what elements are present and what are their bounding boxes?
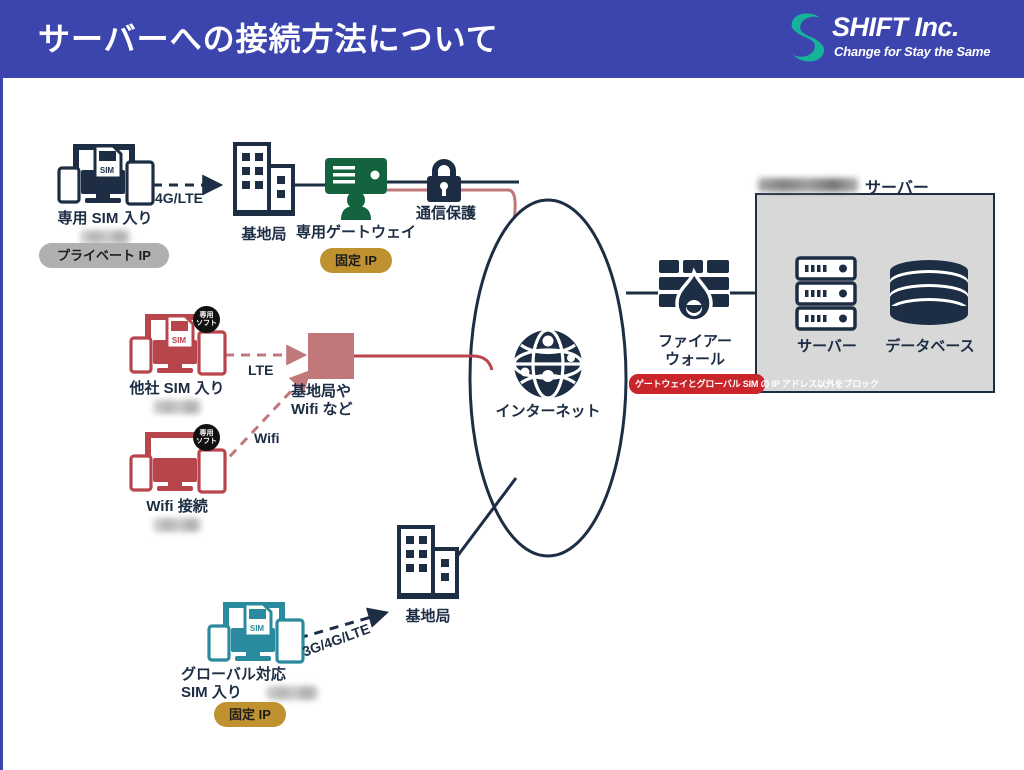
server-zone-title: サーバー xyxy=(865,174,929,198)
redacted-global-sim xyxy=(266,686,318,700)
node-base-station-or-wifi[interactable] xyxy=(308,333,354,379)
shift-logo: SHIFT Inc. Change for Stay the Same xyxy=(784,8,1004,70)
slide-root: サーバーへの接続方法について SHIFT Inc. Change for Sta… xyxy=(0,0,1024,770)
devices-with-sim-icon: SIM xyxy=(205,598,305,668)
soft-badge-other-sim: 専用 ソフト xyxy=(193,306,220,333)
badge-firewall-block-rule: ゲートウェイとグローバル SIM の IP アドレス以外をブロック xyxy=(629,374,765,394)
slide-header: サーバーへの接続方法について SHIFT Inc. Change for Sta… xyxy=(0,0,1024,78)
soft-badge-line2: ソフト xyxy=(196,320,217,327)
label-internet: インターネット xyxy=(488,403,608,421)
label-wifi-device: Wifi 接続 xyxy=(107,498,247,516)
node-database[interactable] xyxy=(887,258,971,332)
label-comm-protection: 通信保護 xyxy=(396,205,496,223)
firewall-flame-icon xyxy=(657,256,731,330)
logo-wordmark: SHIFT Inc. xyxy=(832,12,959,43)
svg-text:SIM: SIM xyxy=(250,624,265,633)
shift-s-swoosh-icon xyxy=(784,10,832,66)
database-cylinder-icon xyxy=(887,258,971,332)
building-icon xyxy=(231,140,297,218)
page-title: サーバーへの接続方法について xyxy=(38,14,499,60)
label-base-station-bottom: 基地局 xyxy=(383,608,473,626)
node-dedicated-gateway[interactable] xyxy=(323,156,389,220)
edge-label-lte: LTE xyxy=(248,362,273,378)
edge-label-wifi: Wifi xyxy=(254,430,280,446)
node-internet[interactable] xyxy=(512,328,584,400)
building-icon xyxy=(395,523,461,601)
node-base-station-top[interactable] xyxy=(231,140,297,218)
gateway-server-person-icon xyxy=(323,156,389,220)
label-other-sim-device: 他社 SIM 入り xyxy=(107,380,247,398)
node-firewall[interactable] xyxy=(657,256,731,330)
redacted-wifi-device xyxy=(153,518,201,532)
label-firewall: ファイアー ウォール xyxy=(643,333,747,368)
badge-private-ip: プライベート IP xyxy=(39,243,169,268)
node-server[interactable] xyxy=(794,256,858,332)
edge-label-4g-lte: 4G/LTE xyxy=(155,190,203,206)
server-rack-icon xyxy=(794,256,858,332)
soft-badge-line1: 専用 xyxy=(200,312,214,319)
server-zone-title-redacted xyxy=(758,178,858,192)
padlock-icon xyxy=(423,156,465,206)
node-dedicated-sim-device[interactable]: SIM xyxy=(55,140,155,210)
node-base-station-bottom[interactable] xyxy=(395,523,461,601)
label-server: サーバー xyxy=(786,338,868,356)
label-dedicated-sim-device: 専用 SIM 入り xyxy=(35,210,175,228)
logo-tagline: Change for Stay the Same xyxy=(834,44,990,59)
badge-global-static-ip: 固定 IP xyxy=(214,702,286,727)
redacted-dedicated-sim xyxy=(80,230,130,244)
label-database: データベース xyxy=(883,338,977,356)
label-base-station-or-wifi: 基地局や Wifi など xyxy=(291,383,375,418)
svg-text:SIM: SIM xyxy=(100,166,115,175)
node-comm-protection[interactable] xyxy=(423,156,465,206)
badge-gateway-static-ip: 固定 IP xyxy=(320,248,392,273)
devices-with-sim-icon: SIM xyxy=(55,140,155,210)
globe-network-icon xyxy=(512,328,584,400)
soft-badge-wifi: 専用 ソフト xyxy=(193,424,220,451)
node-global-sim-device[interactable]: SIM xyxy=(205,598,305,668)
diagram-canvas: サーバー SIM 専用 SIM 入り プライベ xyxy=(0,78,1024,770)
redacted-other-sim xyxy=(153,400,201,414)
label-dedicated-gateway: 専用ゲートウェイ xyxy=(290,224,422,242)
soft-badge-line2: ソフト xyxy=(196,438,217,445)
soft-badge-line1: 専用 xyxy=(200,430,214,437)
svg-text:SIM: SIM xyxy=(172,336,187,345)
